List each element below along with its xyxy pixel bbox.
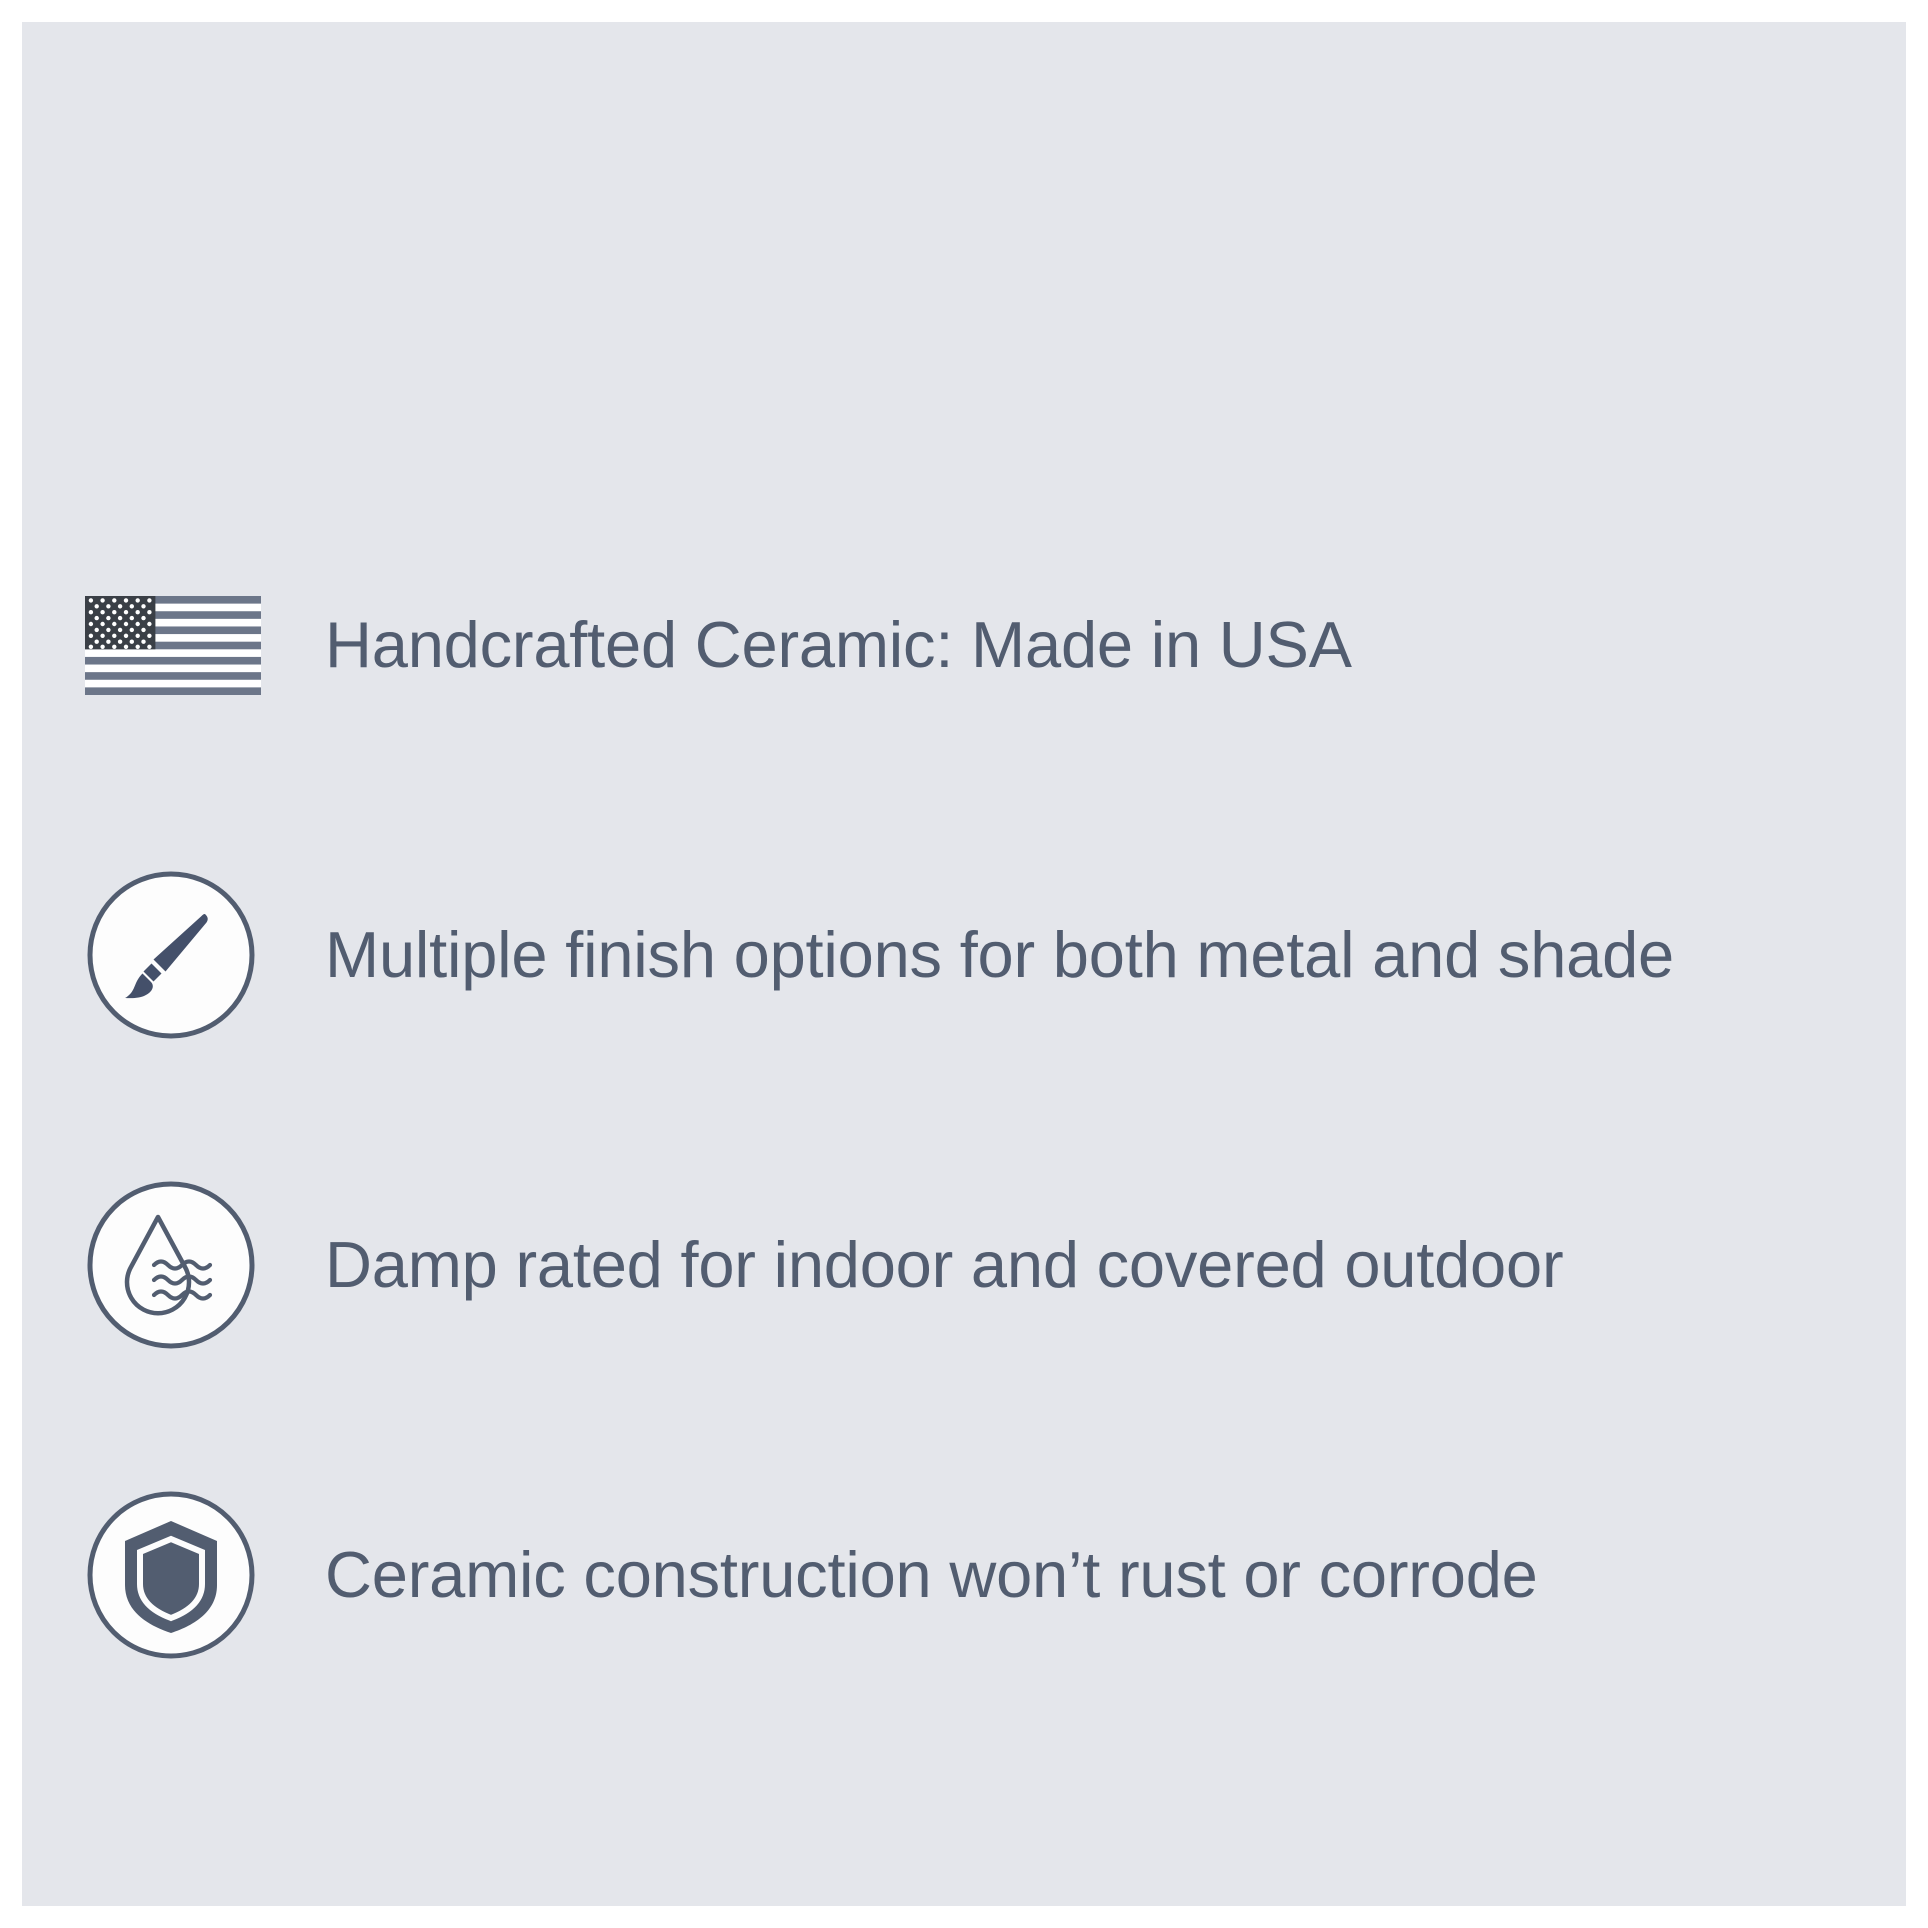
feature-row: Multiple finish options for both metal a… [85, 800, 1875, 1110]
paintbrush-icon [85, 869, 257, 1041]
feature-label-cell: Handcrafted Ceramic: Made in USA [325, 611, 1875, 679]
feature-list: Handcrafted Ceramic: Made in USA [85, 490, 1875, 1730]
shield-icon [85, 1489, 257, 1661]
product-feature-graphic: Handcrafted Ceramic: Made in USA [0, 0, 1928, 1928]
feature-row: Ceramic construction won’t rust or corro… [85, 1420, 1875, 1730]
feature-label-cell: Multiple finish options for both metal a… [325, 921, 1875, 989]
feature-icon-cell [85, 869, 325, 1041]
feature-label-cell: Damp rated for indoor and covered outdoo… [325, 1231, 1875, 1299]
feature-label: Multiple finish options for both metal a… [325, 921, 1875, 989]
feature-label: Handcrafted Ceramic: Made in USA [325, 611, 1875, 679]
feature-icon-cell [85, 1179, 325, 1351]
feature-panel: Handcrafted Ceramic: Made in USA [22, 22, 1906, 1906]
feature-icon-cell [85, 1489, 325, 1661]
us-flag-icon [85, 596, 261, 695]
feature-icon-cell [85, 596, 325, 695]
feature-label: Ceramic construction won’t rust or corro… [325, 1541, 1875, 1609]
feature-row: Handcrafted Ceramic: Made in USA [85, 490, 1875, 800]
water-droplet-icon [85, 1179, 257, 1351]
feature-label: Damp rated for indoor and covered outdoo… [325, 1231, 1875, 1299]
feature-row: Damp rated for indoor and covered outdoo… [85, 1110, 1875, 1420]
feature-label-cell: Ceramic construction won’t rust or corro… [325, 1541, 1875, 1609]
